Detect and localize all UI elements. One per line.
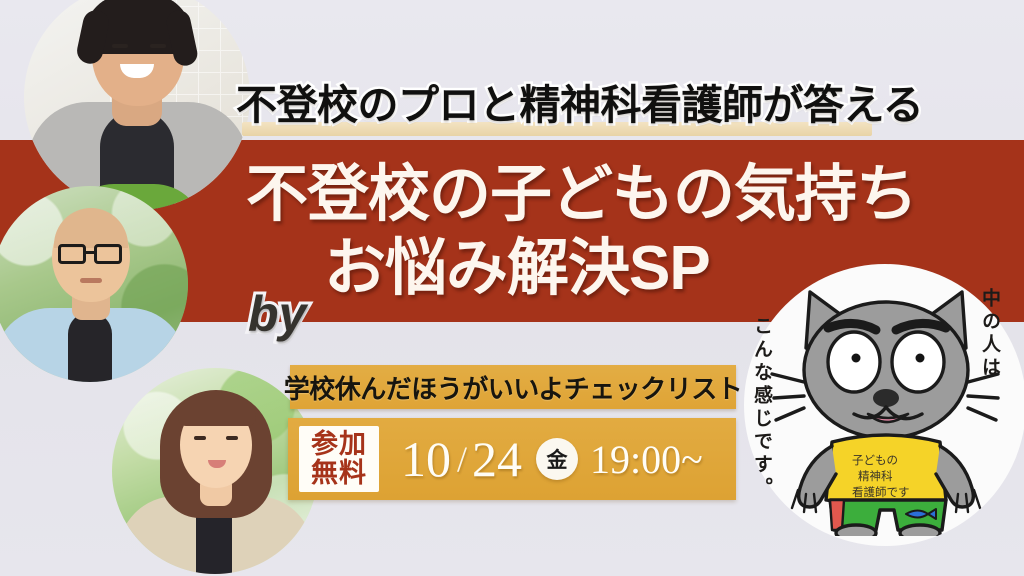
glasses-lens-left <box>58 244 86 264</box>
cat-mascot-icon: 子どもの 精神科 看護師です <box>770 274 1002 536</box>
speaker-photo-middle <box>0 186 188 382</box>
headline-container: 不登校のプロと精神科看護師が答える <box>236 76 896 138</box>
eye-right <box>226 436 238 440</box>
by-label: by <box>248 286 306 342</box>
headline-text: 不登校のプロと精神科看護師が答える <box>236 76 896 134</box>
free-admission-badge: 参加 無料 <box>299 426 379 492</box>
main-title-line-1: 不登校の子どもの気持ち <box>246 158 917 232</box>
main-title-line-2: お悩み解決SP <box>324 232 710 306</box>
free-badge-line-1: 参加 <box>311 430 367 459</box>
shirt-text-line-3: 看護師です <box>852 485 910 499</box>
event-month: 10 <box>401 430 451 488</box>
date-separator: / <box>457 438 467 480</box>
mascot-caption-left: こんな感じです。 <box>748 316 775 500</box>
day-of-week-badge: 金 <box>536 438 578 480</box>
glasses-lens-right <box>94 244 122 264</box>
hair-bangs <box>178 396 256 426</box>
eye-left <box>194 436 206 440</box>
eye-right <box>150 44 166 48</box>
event-date-bar: 参加 無料 10 / 24 金 19:00~ <box>288 418 736 500</box>
mascot-caption-right: 中の人は <box>976 288 1003 380</box>
day-of-week-text: 金 <box>547 444 568 474</box>
eye-left <box>112 44 128 48</box>
black-tee <box>68 312 112 382</box>
checklist-subtitle-text: 学校休んだほうがいいよチェックリスト <box>284 369 742 406</box>
event-day: 24 <box>472 430 522 488</box>
glasses-bridge <box>85 251 96 254</box>
shirt-text-line-1: 子どもの <box>852 454 898 467</box>
shirt-text-line-2: 精神科 <box>858 469 893 483</box>
event-time: 19:00~ <box>590 436 703 483</box>
event-datetime: 10 / 24 金 19:00~ <box>401 430 703 488</box>
free-badge-line-2: 無料 <box>311 459 367 488</box>
checklist-subtitle-bar: 学校休んだほうがいいよチェックリスト <box>290 365 736 409</box>
promo-banner: 不登校のプロと精神科看護師が答える 不登校の子どもの気持ち お悩み解決SP by <box>0 0 1024 576</box>
speaker-photo-top <box>24 0 250 210</box>
mouth <box>80 278 102 283</box>
